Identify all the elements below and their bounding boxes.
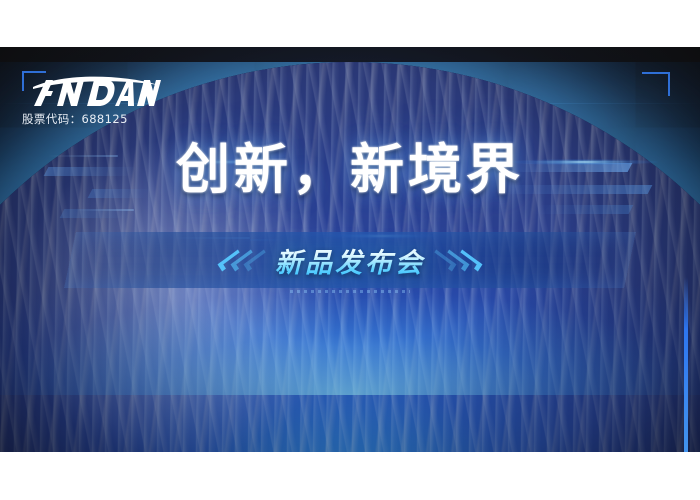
ribbon-content: 新品发布会 xyxy=(70,232,630,288)
subtitle-text: 新品发布会 xyxy=(275,241,425,280)
corner-bracket-icon xyxy=(642,72,670,96)
andars-swoosh-logo-icon xyxy=(31,76,161,110)
slide-canvas: 股票代码：688125 创新，新境界 新品发布会 xyxy=(0,0,700,500)
light-streak-decor xyxy=(76,209,134,211)
dotted-underline-decor xyxy=(290,290,410,293)
hero-title-area: 创新，新境界 xyxy=(0,142,700,199)
subtitle-ribbon: 新品发布会 xyxy=(70,232,630,288)
right-edge-light-strip xyxy=(684,277,688,452)
chevron-left-triple-icon xyxy=(225,250,261,271)
hero-banner: 股票代码：688125 创新，新境界 新品发布会 xyxy=(0,47,700,452)
page-title: 创新，新境界 xyxy=(176,142,524,199)
stock-code-label: 股票代码：688125 xyxy=(22,111,128,127)
chevron-right-triple-icon xyxy=(439,250,475,271)
